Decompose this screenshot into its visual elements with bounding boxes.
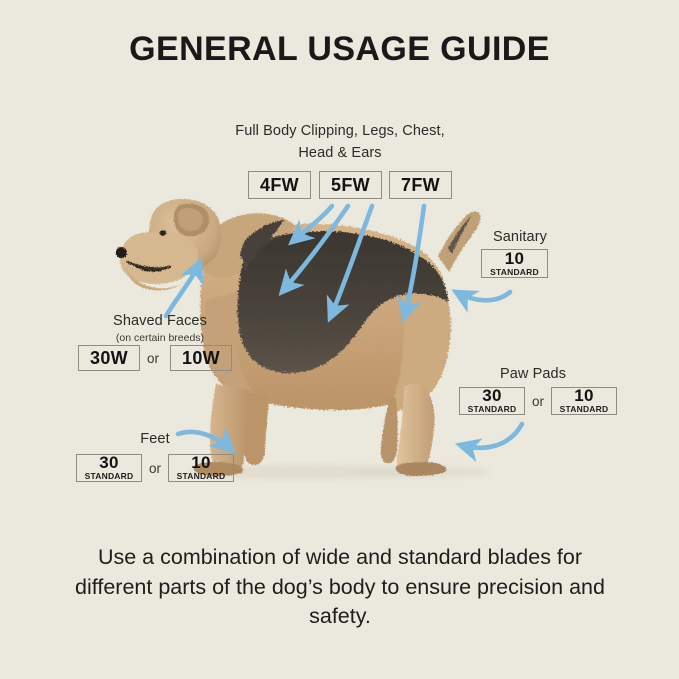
badge-sanitary-10-value: 10 bbox=[505, 250, 525, 268]
badge-feet-30-value: 30 bbox=[99, 454, 119, 472]
dog-saddle bbox=[238, 220, 448, 373]
full-body-label-line2: Head & Ears bbox=[204, 144, 476, 164]
shaved-faces-sublabel: (on certain breeds) bbox=[70, 332, 250, 344]
shaved-faces-label: Shaved Faces bbox=[70, 312, 250, 332]
arrow-to-rear-paw bbox=[460, 424, 522, 448]
badge-7fw[interactable]: 7FW bbox=[389, 171, 452, 199]
badge-10w-value: 10W bbox=[182, 349, 220, 368]
badge-sanitary-10-std: STANDARD bbox=[490, 268, 539, 277]
page-title: GENERAL USAGE GUIDE bbox=[0, 30, 679, 69]
badge-30w[interactable]: 30W bbox=[78, 345, 140, 371]
arrow-to-neck bbox=[292, 206, 332, 242]
badge-4fw[interactable]: 4FW bbox=[248, 171, 311, 199]
caption-text: Use a combination of wide and standard b… bbox=[60, 543, 620, 632]
badge-10w[interactable]: 10W bbox=[170, 345, 232, 371]
badge-7fw-value: 7FW bbox=[401, 176, 440, 195]
arrow-to-chest bbox=[330, 206, 372, 318]
dog-head bbox=[116, 199, 222, 290]
badge-feet-10-value: 10 bbox=[191, 454, 211, 472]
usage-guide-page: GENERAL USAGE GUIDE Full Body Clipping, … bbox=[0, 0, 679, 679]
badge-feet-10[interactable]: 10 STANDARD bbox=[168, 454, 234, 482]
feet-label: Feet bbox=[100, 430, 210, 450]
badge-paw-30-value: 30 bbox=[482, 387, 502, 405]
badge-paw-10-value: 10 bbox=[574, 387, 594, 405]
badge-4fw-value: 4FW bbox=[260, 176, 299, 195]
badge-feet-10-std: STANDARD bbox=[177, 472, 226, 481]
badge-paw-10-std: STANDARD bbox=[560, 405, 609, 414]
arrow-to-shoulder bbox=[282, 206, 348, 292]
shaved-faces-separator: or bbox=[147, 351, 159, 366]
badge-30w-value: 30W bbox=[90, 349, 128, 368]
badge-paw-30[interactable]: 30 STANDARD bbox=[459, 387, 525, 415]
badge-feet-30[interactable]: 30 STANDARD bbox=[76, 454, 142, 482]
badge-paw-10[interactable]: 10 STANDARD bbox=[551, 387, 617, 415]
badge-5fw-value: 5FW bbox=[331, 176, 370, 195]
feet-separator: or bbox=[149, 461, 161, 476]
full-body-label-line1: Full Body Clipping, Legs, Chest, bbox=[204, 122, 476, 142]
arrow-to-hindquarter bbox=[404, 206, 424, 318]
dog-neck bbox=[196, 213, 296, 277]
ground-shadow-rear bbox=[350, 466, 490, 478]
badge-feet-30-std: STANDARD bbox=[85, 472, 134, 481]
arrow-to-sanitary bbox=[456, 292, 510, 300]
paw-pads-separator: or bbox=[532, 394, 544, 409]
badge-5fw[interactable]: 5FW bbox=[319, 171, 382, 199]
badge-sanitary-10[interactable]: 10 STANDARD bbox=[481, 249, 548, 278]
badge-paw-30-std: STANDARD bbox=[468, 405, 517, 414]
arrow-to-head bbox=[166, 262, 200, 316]
paw-pads-label: Paw Pads bbox=[458, 365, 608, 385]
sanitary-label: Sanitary bbox=[455, 228, 585, 248]
